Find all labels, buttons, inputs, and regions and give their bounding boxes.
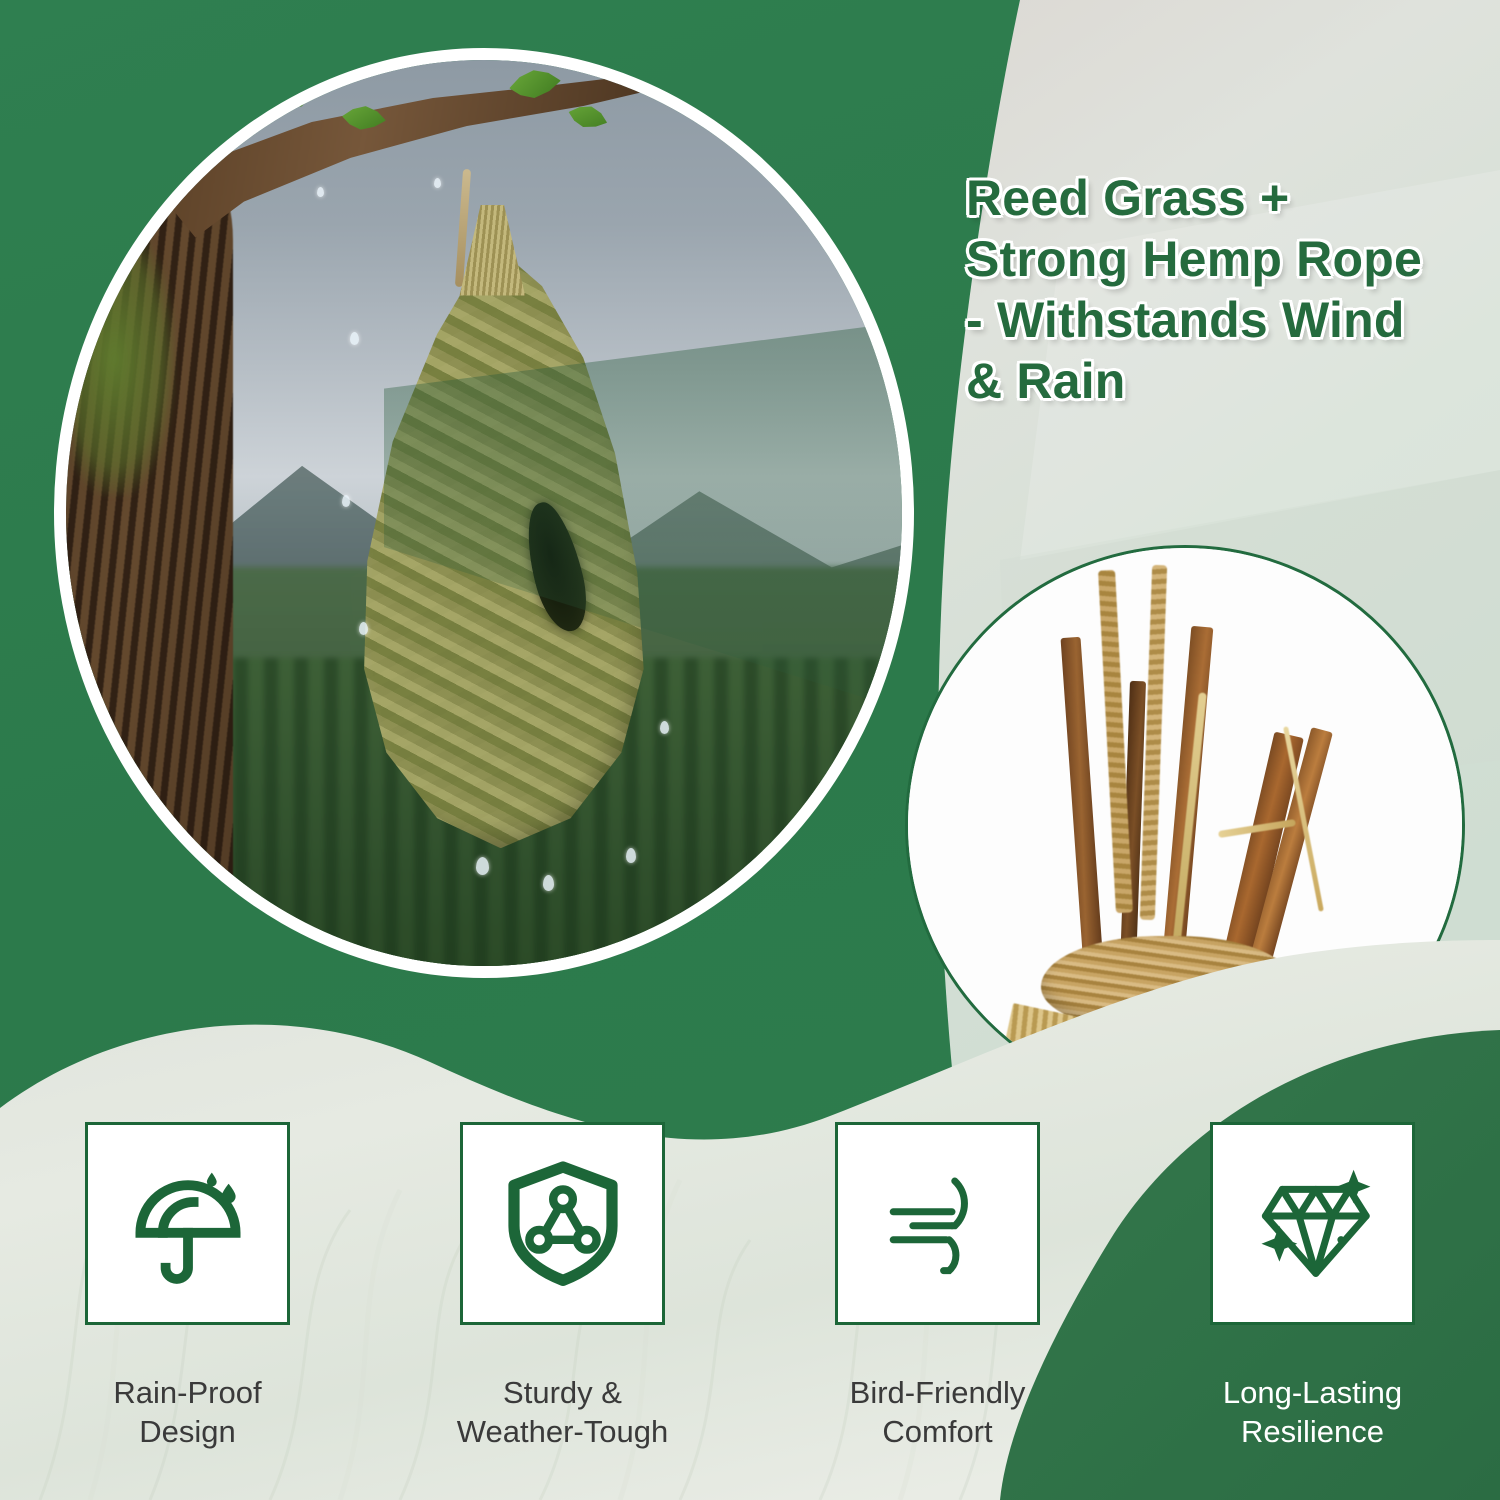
icon-box (835, 1122, 1040, 1325)
feature-sturdy: Sturdy & Weather-Tough (375, 1122, 750, 1452)
headline-line-2: Strong Hemp Rope (966, 229, 1486, 290)
icon-box (460, 1122, 665, 1325)
water-droplet (543, 875, 554, 891)
water-droplet (626, 848, 636, 863)
headline-line-3: - Withstands Wind (966, 290, 1486, 351)
feature-long-lasting: Long-Lasting Resilience (1125, 1122, 1500, 1452)
birdhouse-entrance-hole (517, 498, 595, 637)
headline-line-4: & Rain (966, 351, 1486, 412)
infographic-canvas: Reed Grass + Strong Hemp Rope - Withstan… (0, 0, 1500, 1500)
water-droplet (359, 622, 368, 635)
feature-label: Bird-Friendly Comfort (850, 1373, 1026, 1452)
icon-box (85, 1122, 290, 1325)
icon-box (1210, 1122, 1415, 1325)
shield-network-icon (493, 1153, 633, 1293)
feature-label: Sturdy & Weather-Tough (457, 1373, 668, 1452)
umbrella-raindrop-icon (118, 1153, 258, 1293)
water-droplet (350, 332, 359, 345)
feature-label: Long-Lasting Resilience (1223, 1373, 1402, 1452)
diamond-sparkle-icon (1243, 1153, 1383, 1293)
water-droplet (434, 178, 441, 188)
headline: Reed Grass + Strong Hemp Rope - Withstan… (966, 168, 1486, 412)
feature-strip: Rain-Proof Design Sturdy & Weather-Toug (0, 1122, 1500, 1452)
water-droplet (342, 495, 350, 507)
feature-rain-proof: Rain-Proof Design (0, 1122, 375, 1452)
feature-bird-friendly: Bird-Friendly Comfort (750, 1122, 1125, 1452)
water-droplet (317, 187, 324, 197)
main-product-photo (54, 48, 914, 978)
headline-line-1: Reed Grass + (966, 168, 1486, 229)
feature-label: Rain-Proof Design (113, 1373, 261, 1452)
wind-icon (868, 1153, 1008, 1293)
water-droplet (660, 721, 669, 734)
water-droplet (476, 857, 489, 875)
moss-patch (74, 223, 174, 495)
